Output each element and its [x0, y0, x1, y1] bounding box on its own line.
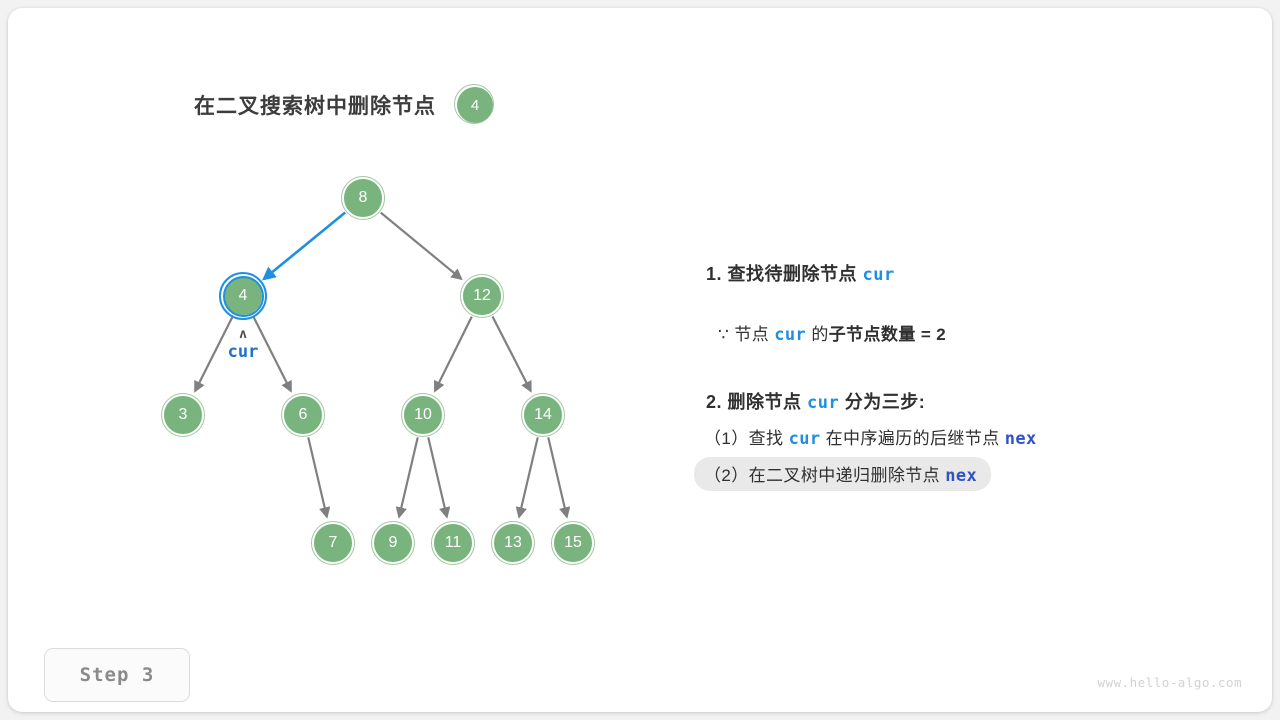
- step2-text: 删除节点: [728, 392, 802, 412]
- item1-var-nex: nex: [1005, 429, 1037, 449]
- item1-text-b: 在中序遍历的后继节点: [826, 429, 1000, 448]
- tree-edge: [435, 317, 472, 391]
- step2-item-1: （1）查找 cur 在中序遍历的后继节点 nex: [704, 424, 1037, 449]
- node-value: 7: [329, 534, 338, 552]
- step1-var-cur: cur: [863, 265, 895, 285]
- tree-node-6: 6: [281, 393, 325, 437]
- step1-text: 查找待删除节点: [728, 264, 858, 284]
- reason-var-cur: cur: [774, 325, 806, 345]
- node-value: 8: [359, 189, 368, 207]
- tree-edge: [264, 213, 345, 279]
- reason-text-a: 节点: [734, 325, 769, 344]
- reason-count: 2: [936, 325, 946, 344]
- node-value: 9: [389, 534, 398, 552]
- step-badge-label: Step 3: [80, 664, 155, 686]
- tree-node-4: 4: [221, 274, 265, 318]
- badge-value: 4: [471, 97, 479, 114]
- node-value: 10: [414, 406, 432, 424]
- node-value: 11: [445, 534, 462, 552]
- caret-icon: ʌ: [228, 328, 259, 341]
- item1-text-a: 查找: [749, 429, 784, 448]
- because-symbol: ∵: [718, 325, 729, 344]
- tree-edge: [308, 437, 327, 516]
- step2-prefix: 2.: [706, 392, 722, 412]
- step2-var-cur: cur: [807, 393, 839, 413]
- item2-var-nex: nex: [945, 466, 977, 486]
- step2-item-2: （2）在二叉树中递归删除节点 nex: [694, 457, 991, 491]
- tree-edge: [381, 213, 461, 279]
- tree-node-8: 8: [341, 176, 385, 220]
- step2-suffix: 分为三步:: [845, 392, 926, 412]
- step1-heading: 1. 查找待删除节点 cur: [706, 260, 895, 286]
- tree-node-15: 15: [551, 521, 595, 565]
- reason-bold-b: 子节点数量: [829, 325, 916, 344]
- step2-item-2-wrap: （2）在二叉树中递归删除节点 nex: [704, 457, 991, 491]
- tree-node-12: 12: [460, 274, 504, 318]
- tree-node-9: 9: [371, 521, 415, 565]
- item1-index: （1）: [704, 429, 749, 448]
- tree-node-13: 13: [491, 521, 535, 565]
- item2-index: （2）: [704, 466, 749, 485]
- item1-var-cur: cur: [789, 429, 821, 449]
- tree-node-3: 3: [161, 393, 205, 437]
- node-value: 12: [473, 287, 491, 305]
- binary-search-tree-diagram: 841236101479111315 ʌcur: [8, 8, 668, 628]
- node-value: 3: [179, 406, 188, 424]
- tree-node-7: 7: [311, 521, 355, 565]
- tree-edge: [519, 437, 538, 516]
- reason-line: ∵ 节点 cur 的子节点数量 = 2: [718, 320, 946, 345]
- tree-edge: [548, 437, 567, 516]
- node-value: 4: [239, 287, 248, 305]
- node-value: 13: [504, 534, 522, 552]
- reason-equals: =: [921, 325, 931, 344]
- node-value: 6: [299, 406, 308, 424]
- tree-edge-layer: [195, 213, 567, 517]
- tree-edge: [492, 316, 530, 391]
- reason-text-b: 的: [811, 325, 828, 344]
- step1-prefix: 1.: [706, 264, 722, 284]
- tree-node-11: 11: [431, 521, 475, 565]
- slide-card: 在二叉搜索树中删除节点 4 841236101479111315 ʌcur 1.: [8, 8, 1272, 712]
- tree-edge: [399, 437, 418, 516]
- watermark: www.hello-algo.com: [1098, 675, 1242, 690]
- cur-pointer-label: ʌcur: [228, 328, 259, 361]
- tree-node-14: 14: [521, 393, 565, 437]
- tree-node-10: 10: [401, 393, 445, 437]
- cur-pointer-text: cur: [228, 342, 259, 362]
- tree-edge: [428, 437, 447, 516]
- node-value: 14: [534, 406, 552, 424]
- node-value: 15: [564, 534, 582, 552]
- tree-edge: [253, 317, 290, 391]
- item2-text-a: 在二叉树中递归删除节点: [749, 466, 940, 485]
- step-badge: Step 3: [44, 648, 190, 702]
- step2-heading: 2. 删除节点 cur 分为三步:: [706, 388, 925, 414]
